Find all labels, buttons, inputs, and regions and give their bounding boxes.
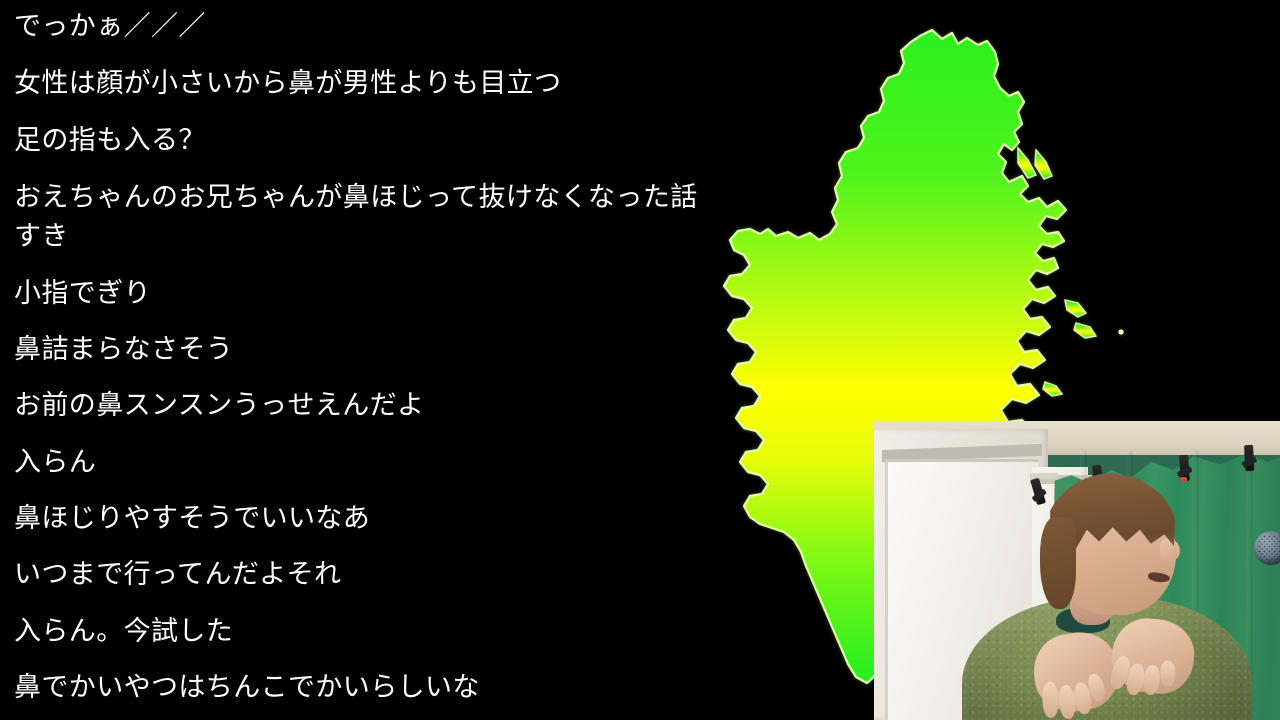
finger <box>1142 664 1161 696</box>
comment-line: 鼻ほじりやすそうでいいなあ <box>14 503 370 533</box>
finger <box>1042 682 1059 719</box>
streamer-webcam-inset[interactable] <box>874 421 1280 720</box>
live-comment-overlay: でっかぁ／／／ 女性は顔が小さいから鼻が男性よりも目立つ 足の指も入る？ おえち… <box>0 0 712 720</box>
map-island <box>1043 382 1062 396</box>
map-island <box>1035 150 1052 179</box>
comment-line: 入らん。今試した <box>14 616 233 646</box>
stream-screen: でっかぁ／／／ 女性は顔が小さいから鼻が男性よりも目立つ 足の指も入る？ おえち… <box>0 0 1280 720</box>
comment-line: 女性は顔が小さいから鼻が男性よりも目立つ <box>14 68 561 98</box>
person-hair-side <box>1040 517 1076 609</box>
map-island <box>1074 323 1096 338</box>
person-nose <box>1160 539 1180 561</box>
microphone-icon <box>1254 531 1280 565</box>
comment-line: 小指でぎり <box>14 278 151 308</box>
map-island-dot <box>1118 329 1123 334</box>
cloth-clip <box>1244 445 1254 471</box>
comment-line: 足の指も入る？ <box>14 125 206 155</box>
comment-line: おえちゃんのお兄ちゃんが鼻ほじって抜けなくなった話 <box>14 182 698 212</box>
comment-line: でっかぁ／／／ <box>14 11 206 41</box>
map-island <box>1018 148 1036 178</box>
cloth-clip-marker <box>1180 477 1187 482</box>
map-island <box>1065 300 1086 317</box>
comment-line: お前の鼻スンスンうっせえんだよ <box>14 390 424 420</box>
comment-line: 入らん <box>14 447 96 477</box>
comment-line: 鼻詰まらなさそう <box>14 334 233 364</box>
comment-line: 鼻でかいやつはちんこでかいらしいな <box>14 672 480 702</box>
comment-line: いつまで行ってんだよそれ <box>14 559 341 589</box>
comment-line: すき <box>14 221 69 251</box>
finger <box>1160 661 1175 687</box>
